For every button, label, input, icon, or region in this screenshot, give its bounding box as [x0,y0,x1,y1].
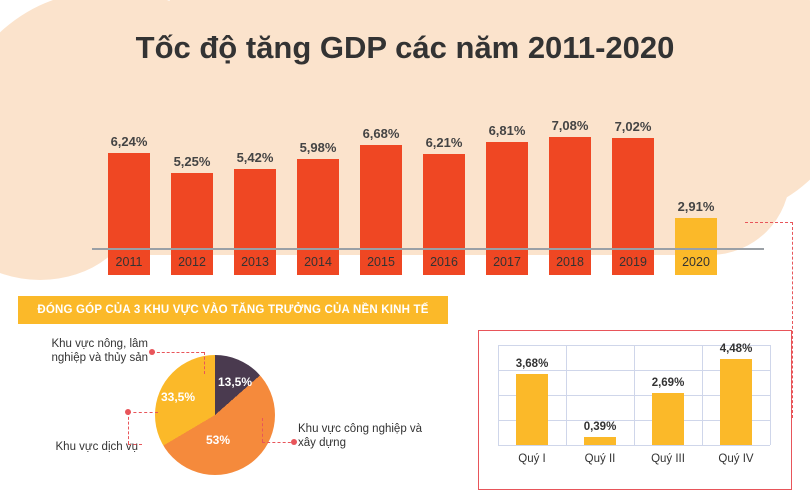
quarterly-gridline [498,345,499,445]
quarterly-bar [516,374,548,445]
quarterly-bar [652,393,684,445]
gdp-bar-label: 2014 [293,255,343,269]
gdp-axis-line [92,248,764,250]
connector-line-right [792,222,793,418]
quarterly-gridline [566,345,567,445]
callout-line-services [128,412,158,413]
quarterly-bar [720,359,752,445]
gdp-bar-value: 5,98% [293,140,343,155]
quarterly-bar-label: Quý I [502,453,562,465]
gdp-bar-value: 7,02% [608,119,658,134]
contribution-banner-label: ĐÓNG GÓP CỦA 3 KHU VỰC VÀO TĂNG TRƯỞNG C… [37,304,428,316]
gdp-bar-value: 6,68% [356,126,406,141]
callout-line-agriculture [152,352,204,353]
gdp-bar-column: 5,25% [167,120,217,275]
callout-industry: Khu vực công nghiệp và xây dựng [298,422,438,450]
gdp-bar-column: 2,91% [671,120,721,275]
quarterly-bar-label: Quý II [570,453,630,465]
connector-line-top [745,222,793,223]
quarterly-bar-value: 0,39% [570,421,630,433]
gdp-bar-value: 6,21% [419,135,469,150]
gdp-bar-column: 6,21% [419,120,469,275]
gdp-bar-column: 5,42% [230,120,280,275]
quarterly-gridline [634,345,635,445]
quarterly-bar-chart: 3,68%Quý I0,39%Quý II2,69%Quý III4,48%Qu… [498,345,770,473]
quarterly-bar-value: 4,48% [706,343,766,355]
callout-line-services-2 [128,444,142,445]
quarterly-gridline [498,445,770,446]
gdp-bar-value: 6,81% [482,123,532,138]
gdp-bar-label: 2013 [230,255,280,269]
gdp-bar-value: 6,24% [104,134,154,149]
quarterly-bar [584,437,616,445]
quarterly-gridline [702,345,703,445]
page-title: Tốc độ tăng GDP các năm 2011-2020 [0,30,810,66]
pie-slice-label-services: 33,5% [161,390,195,404]
gdp-bar-label: 2018 [545,255,595,269]
callout-services: Khu vực dịch vụ [8,440,138,454]
pie-slice-label-industry: 53% [206,433,230,447]
gdp-bar-column: 6,68% [356,120,406,275]
gdp-bar-label: 2017 [482,255,532,269]
gdp-bar-value: 7,08% [545,118,595,133]
callout-line-industry-v [262,418,263,442]
gdp-bar-label: 2012 [167,255,217,269]
pie-shape [155,355,275,475]
gdp-bar-label: 2019 [608,255,658,269]
gdp-bar-value: 5,42% [230,150,280,165]
gdp-bar-column: 5,98% [293,120,343,275]
gdp-bar-column: 7,08% [545,120,595,275]
quarterly-bar-value: 2,69% [638,377,698,389]
callout-dot-agriculture [149,349,155,355]
gdp-bar-value: 5,25% [167,154,217,169]
quarterly-bar-label: Quý III [638,453,698,465]
callout-line-agriculture-v [204,352,205,374]
gdp-bar-column: 6,81% [482,120,532,275]
pie-slice-label-agriculture: 13,5% [218,375,252,389]
gdp-bar-column: 7,02% [608,120,658,275]
gdp-bar-label: 2016 [419,255,469,269]
gdp-bar-label: 2015 [356,255,406,269]
contribution-pie-chart [155,355,275,475]
gdp-bar-value: 2,91% [671,199,721,214]
contribution-banner: ĐÓNG GÓP CỦA 3 KHU VỰC VÀO TĂNG TRƯỞNG C… [18,296,448,324]
callout-agriculture: Khu vực nông, lâm nghiệp và thủy sản [28,337,148,365]
callout-line-services-v [128,412,129,444]
quarterly-bar-label: Quý IV [706,453,766,465]
quarterly-bar-value: 3,68% [502,358,562,370]
callout-dot-industry [291,439,297,445]
gdp-bar-label: 2011 [104,255,154,269]
quarterly-gridline [770,345,771,445]
gdp-bar-column: 6,24% [104,120,154,275]
gdp-bar-label: 2020 [671,255,721,269]
